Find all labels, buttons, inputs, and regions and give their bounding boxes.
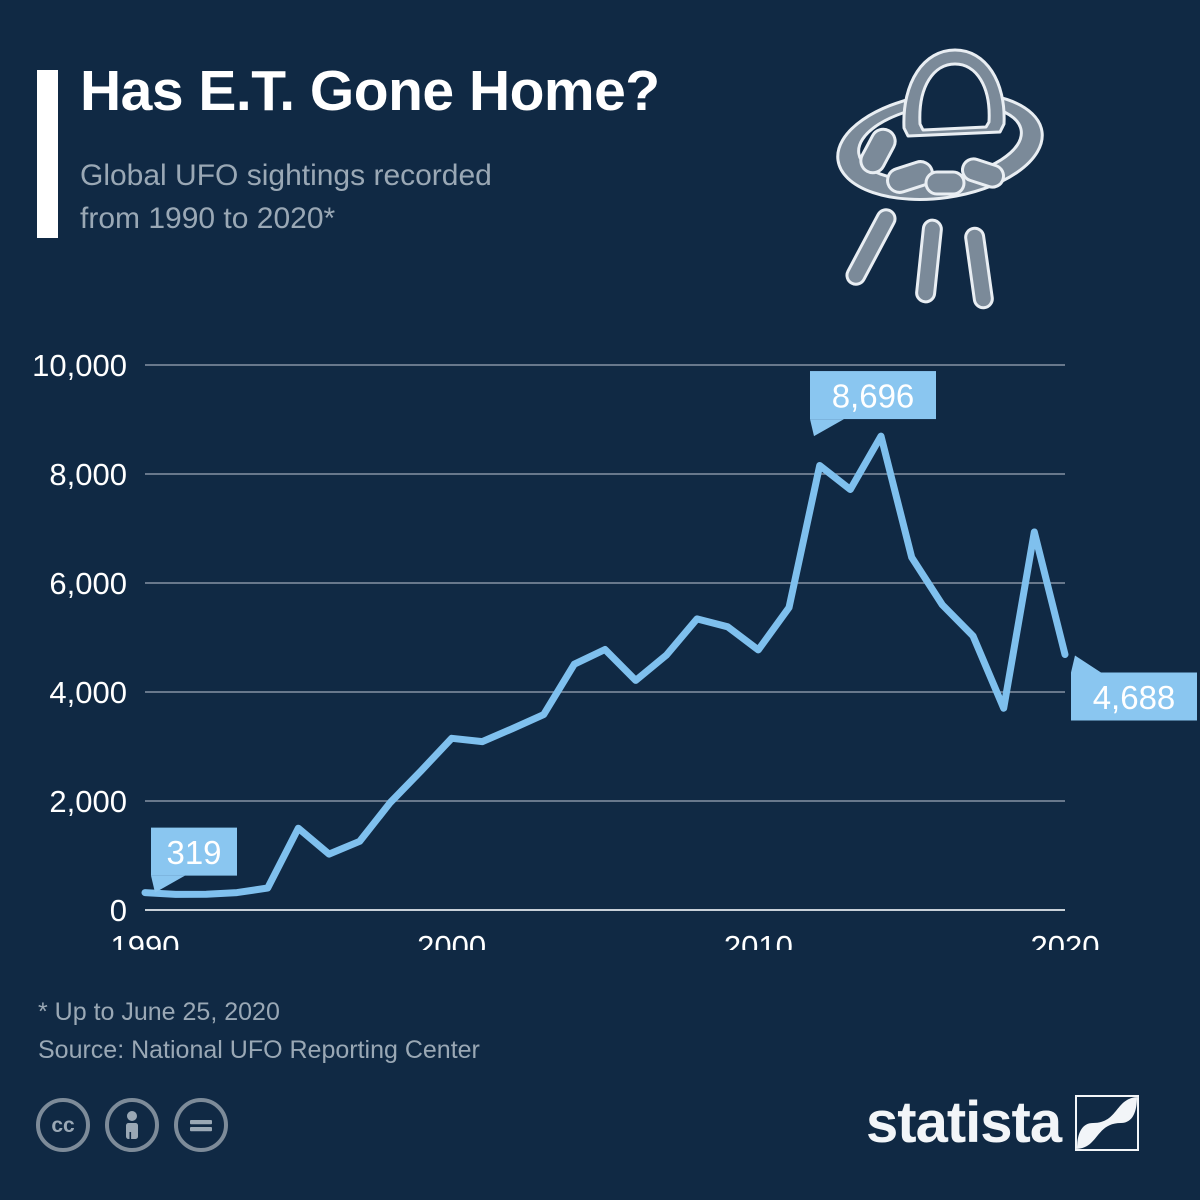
- footnote-and-source: * Up to June 25, 2020 Source: National U…: [38, 993, 480, 1069]
- peak-callout: 8,696: [810, 371, 936, 436]
- svg-text:cc: cc: [51, 1114, 75, 1137]
- y-tick-label: 6,000: [49, 566, 127, 601]
- statista-s-mark-icon: [1075, 1095, 1139, 1151]
- callout-value: 4,688: [1093, 679, 1176, 716]
- no-derivatives-equals-icon[interactable]: [174, 1098, 228, 1152]
- first-point-callout: 319: [151, 828, 237, 893]
- cc-icon[interactable]: cc: [36, 1098, 90, 1152]
- chart-canvas: 10,0008,0006,0004,0002,0000 199020002010…: [0, 330, 1200, 950]
- statista-wordmark: statista: [866, 1094, 1061, 1152]
- y-tick-label: 0: [110, 893, 127, 928]
- ufo-dome-icon: [904, 50, 1004, 136]
- x-axis-tick-labels: 1990200020102020: [111, 929, 1100, 950]
- x-tick-label: 2000: [417, 929, 486, 950]
- ufo-sightings-series: [145, 436, 1065, 894]
- x-tick-label: 2020: [1031, 929, 1100, 950]
- page-subtitle: Global UFO sightings recorded from 1990 …: [80, 155, 492, 240]
- data-callouts: 3198,6964,688: [151, 371, 1197, 893]
- callout-value: 8,696: [832, 378, 915, 415]
- y-tick-label: 10,000: [32, 348, 127, 383]
- creative-commons-license: cc: [36, 1098, 228, 1152]
- title-accent-bar: [37, 70, 58, 238]
- y-tick-label: 4,000: [49, 675, 127, 710]
- last-point-callout: 4,688: [1071, 656, 1197, 721]
- ufo-beams-icon: [844, 207, 994, 309]
- attribution-person-icon[interactable]: [105, 1098, 159, 1152]
- statista-logo: statista: [866, 1094, 1139, 1152]
- callout-value: 319: [166, 834, 221, 871]
- header: Has E.T. Gone Home? Global UFO sightings…: [0, 0, 1200, 320]
- footer: * Up to June 25, 2020 Source: National U…: [0, 975, 1200, 1200]
- line-chart: 10,0008,0006,0004,0002,0000 199020002010…: [0, 330, 1200, 950]
- ufo-illustration: [828, 24, 1058, 314]
- y-tick-label: 8,000: [49, 457, 127, 492]
- grid-layer: [145, 365, 1065, 910]
- x-tick-label: 1990: [111, 929, 180, 950]
- infographic-root: Has E.T. Gone Home? Global UFO sightings…: [0, 0, 1200, 1200]
- x-tick-label: 2010: [724, 929, 793, 950]
- y-axis-tick-labels: 10,0008,0006,0004,0002,0000: [32, 348, 127, 928]
- page-title: Has E.T. Gone Home?: [80, 62, 660, 122]
- y-tick-label: 2,000: [49, 784, 127, 819]
